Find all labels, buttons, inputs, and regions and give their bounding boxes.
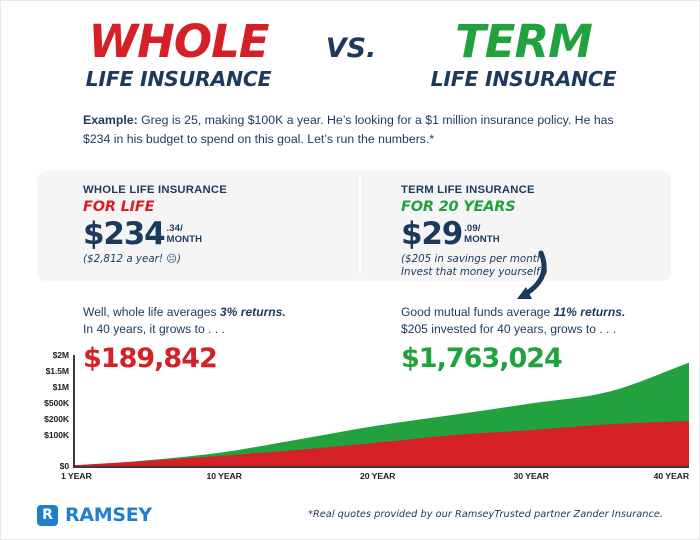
infographic-root: WHOLE LIFE INSURANCE VS. TERM LIFE INSUR… (0, 0, 700, 540)
chart-x-tick: 20 YEAR (360, 471, 395, 481)
term-life-card-title: TERM LIFE INSURANCE (401, 183, 548, 197)
growth-chart: $2M$1.5M$1M$500K$200K$100K$0 1 YEAR10 YE… (1, 349, 700, 489)
example-paragraph: Example: Greg is 25, making $100K a year… (83, 111, 623, 149)
chart-y-tick: $200K (3, 414, 69, 424)
chart-y-tick: $1M (3, 382, 69, 392)
chart-y-tick: $1.5M (3, 366, 69, 376)
chart-y-tick: $100K (3, 430, 69, 440)
whole-life-returns-rate: 3% returns. (220, 305, 286, 319)
headline-term-word: TERM (455, 19, 592, 65)
chart-x-tick: 40 YEAR (654, 471, 689, 481)
chart-x-axis-labels: 1 YEAR10 YEAR20 YEAR30 YEAR40 YEAR (1, 471, 700, 487)
term-life-card-subtitle: FOR 20 YEARS (401, 198, 548, 216)
chart-y-axis-labels: $2M$1.5M$1M$500K$200K$100K$0 (1, 349, 69, 471)
curved-arrow-icon (501, 249, 561, 307)
chart-plot-area (75, 355, 689, 466)
whole-life-period: MONTH (166, 234, 202, 245)
headline-whole: WHOLE LIFE INSURANCE (51, 19, 306, 91)
whole-life-price-row: $234 .34/ MONTH (83, 218, 227, 250)
term-life-result-line1: Good mutual funds average 11% returns. (401, 304, 625, 321)
chart-series-svg (75, 355, 689, 466)
chart-y-tick: $0 (3, 461, 69, 471)
whole-life-result-line2: In 40 years, it grows to . . . (83, 321, 286, 338)
whole-life-annual-note: ($2,812 a year! 😐) (83, 253, 227, 266)
chart-y-tick: $500K (3, 398, 69, 408)
ramsey-logo: R RAMSEY (37, 504, 152, 526)
headline-term-subtitle: LIFE INSURANCE (431, 67, 617, 91)
chart-x-axis-line (73, 466, 689, 468)
ramsey-logo-text: RAMSEY (65, 504, 152, 526)
chart-x-tick: 10 YEAR (207, 471, 242, 481)
whole-life-cents-value: .34/ (166, 223, 202, 234)
chart-x-tick: 1 YEAR (61, 471, 92, 481)
term-life-result-line2: $205 invested for 40 years, grows to . .… (401, 321, 625, 338)
chart-y-tick: $2M (3, 350, 69, 360)
example-text: Greg is 25, making $100K a year. He’s lo… (83, 113, 614, 146)
headline-whole-word: WHOLE (89, 19, 269, 65)
term-life-price-row: $29 .09/ MONTH (401, 218, 548, 250)
term-life-returns-rate: 11% returns. (554, 305, 626, 319)
headline: WHOLE LIFE INSURANCE VS. TERM LIFE INSUR… (1, 19, 700, 99)
headline-term: TERM LIFE INSURANCE (396, 19, 651, 91)
whole-life-result-line1: Well, whole life averages 3% returns. (83, 304, 286, 321)
term-life-result-line1-pre: Good mutual funds average (401, 305, 554, 319)
headline-whole-subtitle: LIFE INSURANCE (86, 67, 272, 91)
whole-life-card: WHOLE LIFE INSURANCE FOR LIFE $234 .34/ … (83, 183, 227, 266)
whole-life-price-cents: .34/ MONTH (166, 223, 202, 245)
whole-life-card-title: WHOLE LIFE INSURANCE (83, 183, 227, 197)
ramsey-logo-mark: R (37, 505, 58, 526)
panel-divider (359, 177, 361, 275)
versus-label: VS. (306, 33, 396, 64)
whole-life-card-subtitle: FOR LIFE (83, 198, 227, 216)
whole-life-result-line1-pre: Well, whole life averages (83, 305, 220, 319)
whole-life-price: $234 (83, 218, 164, 250)
term-life-price-cents: .09/ MONTH (464, 223, 500, 245)
term-life-price: $29 (401, 218, 462, 250)
term-life-cents-value: .09/ (464, 223, 500, 234)
footnote: *Real quotes provided by our RamseyTrust… (308, 509, 663, 520)
term-life-period: MONTH (464, 234, 500, 245)
example-label: Example: (83, 113, 138, 127)
chart-x-tick: 30 YEAR (514, 471, 549, 481)
